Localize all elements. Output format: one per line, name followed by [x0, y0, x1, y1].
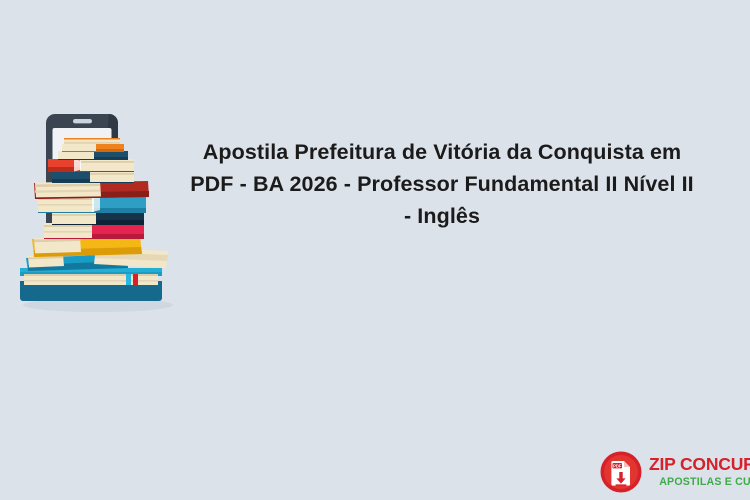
product-illustration — [8, 108, 188, 323]
brand-wordmark: ZIP CONCURSOS APOSTILAS E CURSOS — [649, 456, 750, 487]
book-crimson — [44, 223, 144, 239]
book-bottom-teal — [20, 268, 162, 301]
book-navy-thin-top — [58, 151, 128, 160]
brand-tagline: APOSTILAS E CURSOS — [649, 477, 750, 488]
book-navy-mid — [52, 212, 144, 225]
book-yellow — [32, 236, 142, 257]
book-red-small — [48, 159, 134, 172]
book-navy-small — [52, 171, 134, 183]
book-maroon — [34, 181, 149, 199]
page-title: Apostila Prefeitura de Vitória da Conqui… — [186, 136, 698, 232]
brand-logo: PDF ZIP CONCURSOS APOSTILAS E CURSOS — [600, 451, 742, 493]
book-orange-top — [62, 138, 124, 152]
svg-text:PDF: PDF — [613, 463, 622, 468]
brand-name: ZIP CONCURSOS — [649, 456, 750, 474]
pdf-download-icon: PDF — [600, 451, 642, 493]
tablet-books-illustration — [8, 108, 188, 323]
